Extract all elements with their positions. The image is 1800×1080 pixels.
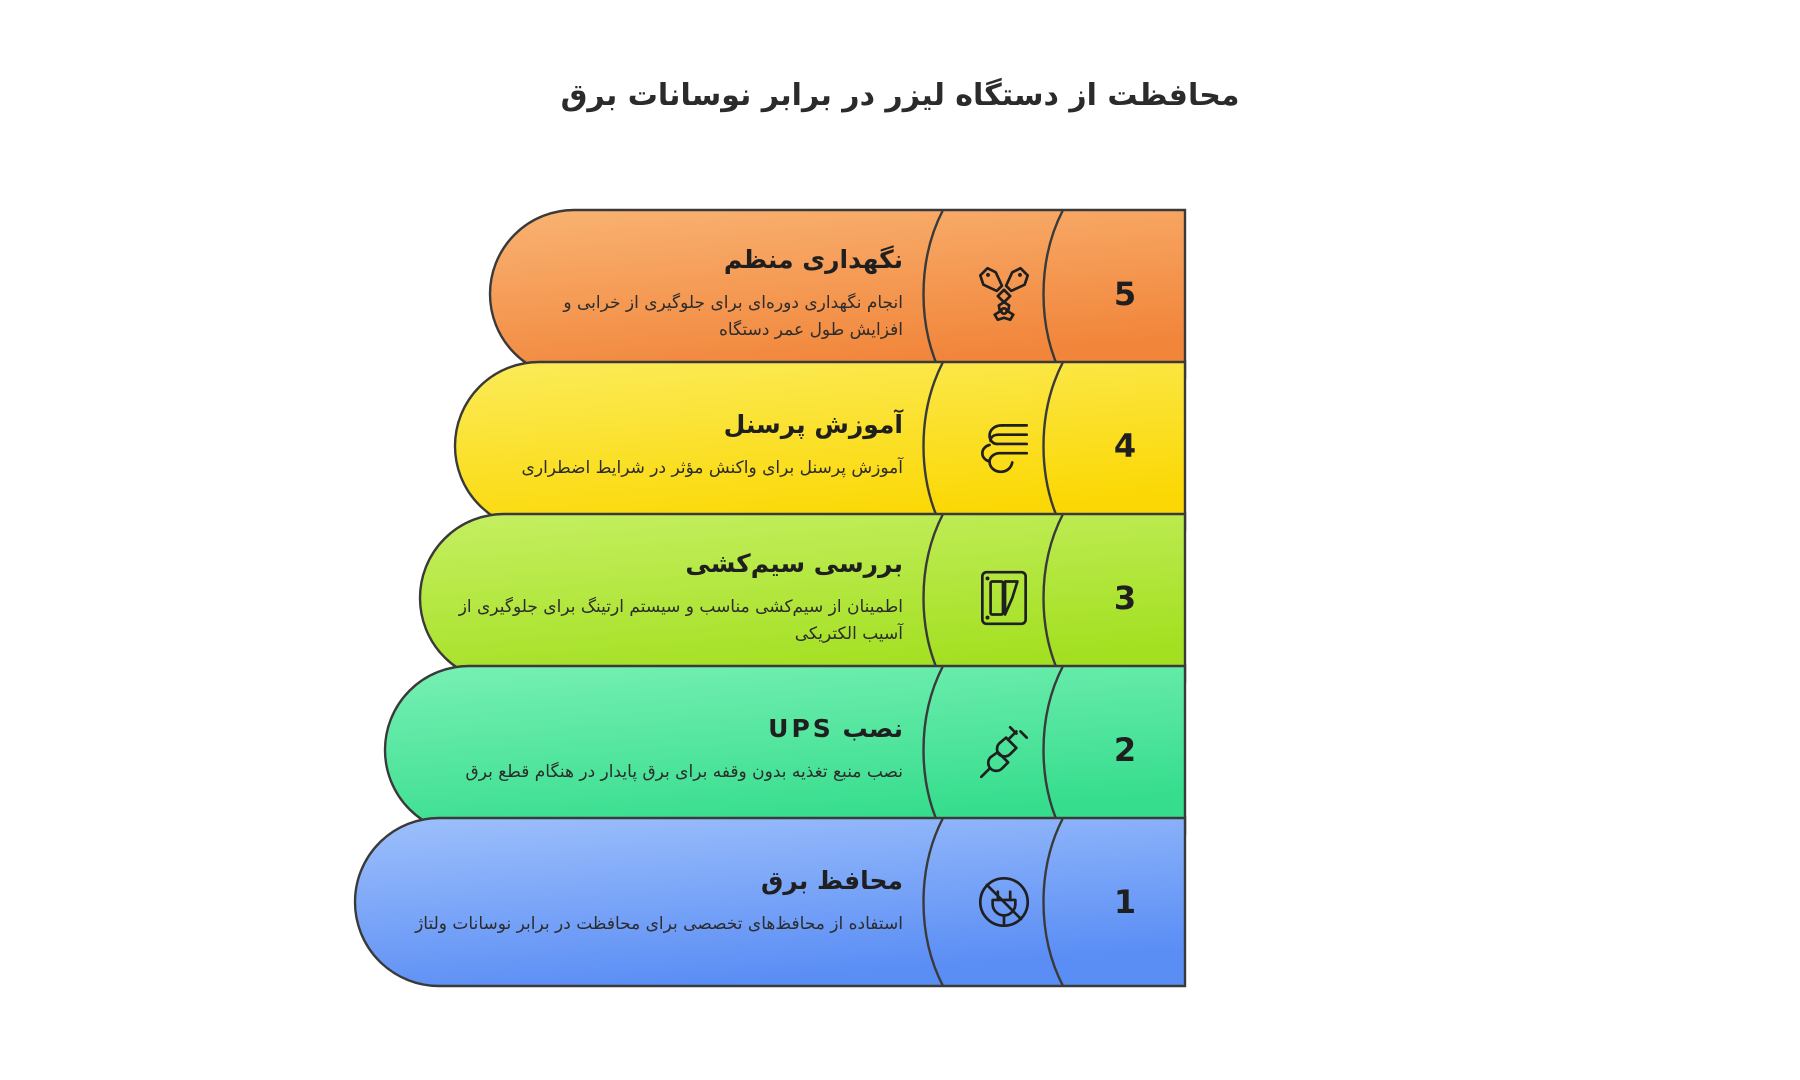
level-content: نصب UPSنصب منبع تغذیه بدون وقفه برای برق… xyxy=(385,666,1185,834)
level-title: بررسی سیم‌کشی xyxy=(446,549,913,578)
level-title: محافظ برق xyxy=(381,866,913,895)
level-content: آموزش پرسنلآموزش پرسنل برای واکنش مؤثر د… xyxy=(455,362,1185,530)
level-content: نگهداری منظمانجام نگهداری دوره‌ای برای ج… xyxy=(490,210,1185,378)
level-title: آموزش پرسنل xyxy=(481,410,913,439)
level-description: نصب منبع تغذیه بدون وقفه برای برق پایدار… xyxy=(411,759,913,785)
level-description: استفاده از محافظ‌های تخصصی برای محافظت د… xyxy=(381,911,913,937)
level-number-badge: 3 xyxy=(1065,514,1185,682)
level-number-badge: 2 xyxy=(1065,666,1185,834)
hand-training-icon xyxy=(943,362,1065,530)
level-number-badge: 1 xyxy=(1065,818,1185,986)
pyramid-level-5[interactable]: نگهداری منظمانجام نگهداری دوره‌ای برای ج… xyxy=(490,210,1185,378)
level-description: اطمینان از سیم‌کشی مناسب و سیستم ارتینگ … xyxy=(446,594,913,647)
level-text-block: نصب UPSنصب منبع تغذیه بدون وقفه برای برق… xyxy=(385,666,943,834)
level-number: 1 xyxy=(1114,883,1136,921)
level-content: بررسی سیم‌کشیاطمینان از سیم‌کشی مناسب و … xyxy=(420,514,1185,682)
level-number-badge: 5 xyxy=(1065,210,1185,378)
wall-switch-icon xyxy=(943,514,1065,682)
pyramid-level-4[interactable]: آموزش پرسنلآموزش پرسنل برای واکنش مؤثر د… xyxy=(455,362,1185,530)
level-number: 2 xyxy=(1114,731,1136,769)
level-text-block: نگهداری منظمانجام نگهداری دوره‌ای برای ج… xyxy=(490,210,943,378)
level-number-badge: 4 xyxy=(1065,362,1185,530)
level-text-block: بررسی سیم‌کشیاطمینان از سیم‌کشی مناسب و … xyxy=(420,514,943,682)
level-description: انجام نگهداری دوره‌ای برای جلوگیری از خر… xyxy=(516,290,913,343)
page-title: محافظت از دستگاه لیزر در برابر نوسانات ب… xyxy=(0,76,1800,117)
level-description: آموزش پرسنل برای واکنش مؤثر در شرایط اضط… xyxy=(481,455,913,481)
no-plug-icon xyxy=(943,818,1065,986)
level-number: 4 xyxy=(1114,427,1136,465)
pyramid-level-1[interactable]: محافظ برقاستفاده از محافظ‌های تخصصی برای… xyxy=(355,818,1185,986)
tools-gear-icon xyxy=(943,210,1065,378)
level-number: 5 xyxy=(1114,275,1136,313)
pyramid-level-3[interactable]: بررسی سیم‌کشیاطمینان از سیم‌کشی مناسب و … xyxy=(420,514,1185,682)
infographic-canvas: محافظت از دستگاه لیزر در برابر نوسانات ب… xyxy=(0,0,1800,1080)
level-text-block: محافظ برقاستفاده از محافظ‌های تخصصی برای… xyxy=(355,818,943,986)
unplugged-plug-icon xyxy=(943,666,1065,834)
pyramid-level-2[interactable]: نصب UPSنصب منبع تغذیه بدون وقفه برای برق… xyxy=(385,666,1185,834)
pyramid-chart: نگهداری منظمانجام نگهداری دوره‌ای برای ج… xyxy=(0,210,1800,1020)
level-content: محافظ برقاستفاده از محافظ‌های تخصصی برای… xyxy=(355,818,1185,986)
level-title: نصب UPS xyxy=(411,714,913,743)
level-title: نگهداری منظم xyxy=(516,245,913,274)
level-number: 3 xyxy=(1114,579,1136,617)
level-text-block: آموزش پرسنلآموزش پرسنل برای واکنش مؤثر د… xyxy=(455,362,943,530)
